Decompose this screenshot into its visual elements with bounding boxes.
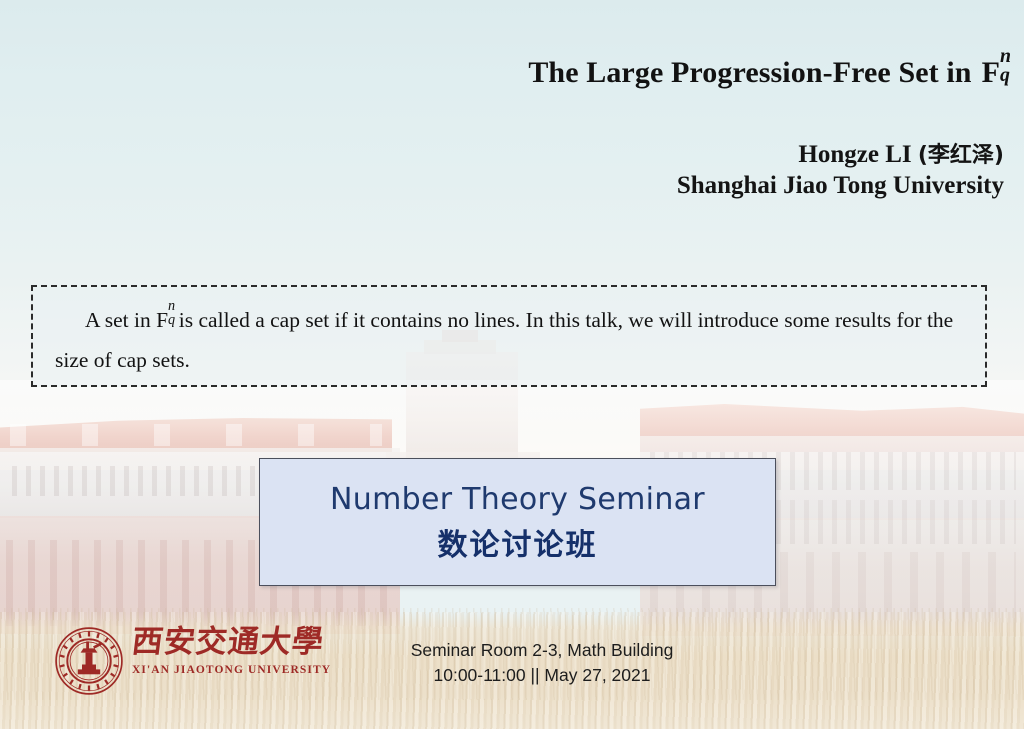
seminar-title-english: Number Theory Seminar bbox=[330, 483, 705, 516]
speaker-name-chinese: (李红泽) bbox=[918, 143, 1004, 168]
university-name-english: XI'AN JIAOTONG UNIVERSITY bbox=[132, 664, 308, 676]
abstract-math-field-notation: Fnq bbox=[156, 301, 168, 341]
poster-content: The Large Progression-Free Set in Fnq Ho… bbox=[0, 0, 1024, 729]
university-wordmark: 西安交通大學 XI'AN JIAOTONG UNIVERSITY bbox=[132, 626, 308, 676]
university-seal-icon bbox=[54, 626, 124, 696]
title-math-subscript: q bbox=[1000, 64, 1010, 87]
title-math-field-notation: Fnq bbox=[982, 56, 1000, 90]
abstract-text-part2: is called a cap set if it contains no li… bbox=[55, 308, 953, 372]
abstract-text: A set in Fnq is called a cap set if it c… bbox=[55, 301, 963, 381]
poster-title-text: The Large Progression-Free Set in bbox=[528, 56, 971, 89]
seminar-title-chinese: 数论讨论班 bbox=[438, 529, 598, 562]
seminar-poster: The Large Progression-Free Set in Fnq Ho… bbox=[0, 0, 1024, 729]
speaker-name: Hongze LI (李红泽) bbox=[677, 140, 1004, 170]
venue-room: Seminar Room 2-3, Math Building bbox=[347, 638, 737, 663]
abstract-math-base: F bbox=[156, 308, 168, 332]
poster-title: The Large Progression-Free Set in Fnq bbox=[528, 56, 1000, 90]
abstract-math-subscript: q bbox=[168, 307, 175, 333]
abstract-box: A set in Fnq is called a cap set if it c… bbox=[31, 285, 987, 387]
university-name-chinese: 西安交通大學 bbox=[130, 626, 310, 659]
speaker-affiliation: Shanghai Jiao Tong University bbox=[677, 171, 1004, 202]
seminar-title-box: Number Theory Seminar 数论讨论班 bbox=[259, 458, 776, 586]
speaker-block: Hongze LI (李红泽) Shanghai Jiao Tong Unive… bbox=[677, 140, 1004, 201]
abstract-text-part1: A set in bbox=[85, 308, 151, 332]
title-math-base: F bbox=[982, 56, 1000, 89]
university-logo: 西安交通大學 XI'AN JIAOTONG UNIVERSITY bbox=[54, 624, 306, 702]
venue-time: 10:00-11:00 || May 27, 2021 bbox=[347, 663, 737, 688]
venue-block: Seminar Room 2-3, Math Building 10:00-11… bbox=[347, 638, 737, 689]
speaker-name-latin: Hongze LI bbox=[798, 141, 911, 168]
